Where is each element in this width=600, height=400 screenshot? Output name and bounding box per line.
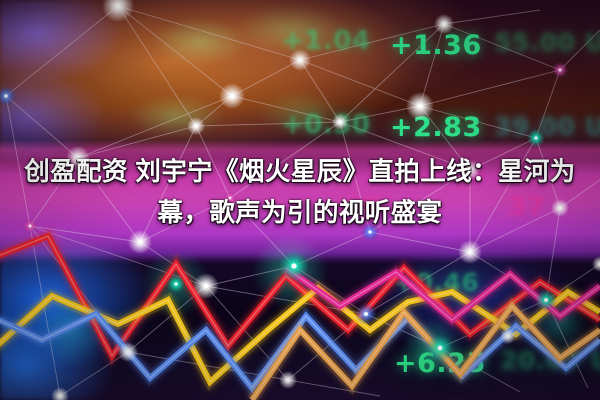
glow-node-core [230,94,234,98]
glow-node-core [544,298,548,302]
glow-node-core [286,378,289,381]
headline-text: 创盈配资 刘宇宁《烟火星辰》直拍上线：星河为 幕，歌声为引的视听盛宴 [0,152,600,234]
glow-node-core [468,250,472,254]
headline-line-2: 幕，歌声为引的视听盛宴 [14,193,586,234]
glow-node-core [507,335,510,338]
glow-node [0,86,16,106]
glow-node [51,387,69,400]
glow-node-core [4,94,7,97]
glow-node-core [559,69,562,72]
headline-line-1: 创盈配资 刘宇宁《烟火星辰》直拍上线：星河为 [14,152,586,193]
glow-node-core [534,136,537,139]
glow-node-core [58,394,61,397]
glow-node-core [298,58,302,62]
glow-node-core [364,312,368,316]
glow-node-core [339,121,342,124]
banner-image: +1.04+1.3655.00 U+0.30+2.8339.00 U37决策+0… [0,0,600,400]
glow-node-core [115,3,120,8]
glow-node-core [194,124,197,127]
glow-node-core [174,282,177,285]
glow-node-core [126,350,129,353]
glow-node-core [291,263,296,268]
glow-node-core [204,284,208,288]
glow-node-core [418,104,423,109]
glow-node-core [438,346,443,351]
glow-node-core [442,22,445,25]
glow-node-core [138,240,142,244]
